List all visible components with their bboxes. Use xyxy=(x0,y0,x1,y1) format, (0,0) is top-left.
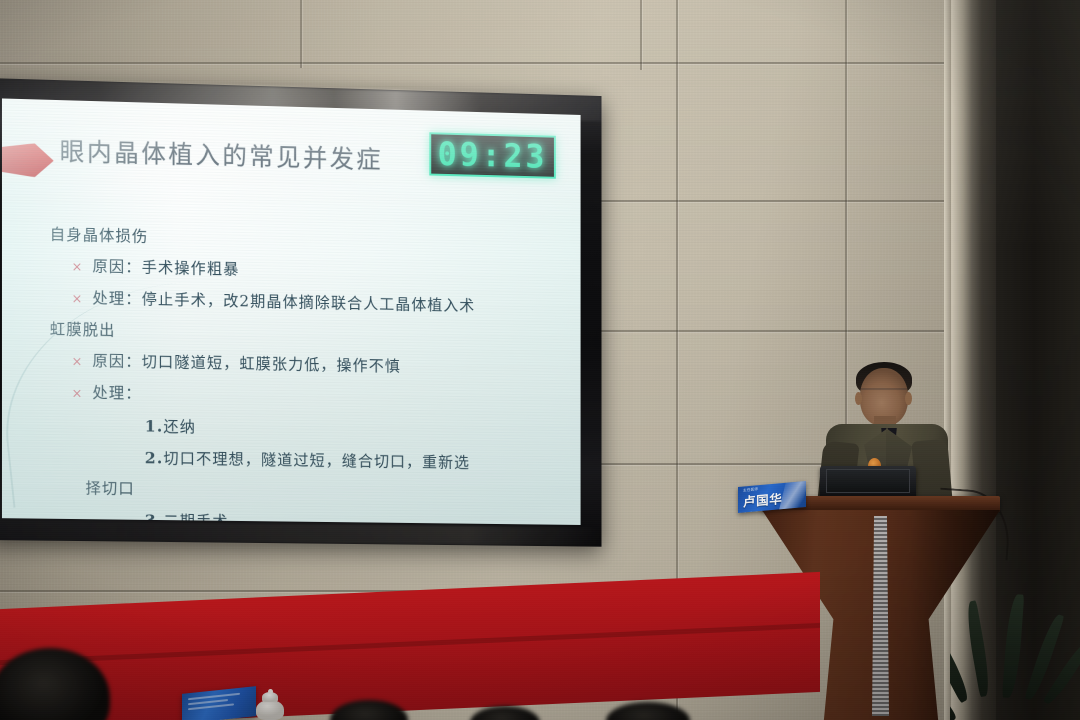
potted-plant xyxy=(950,560,1080,720)
countdown-clock: 09:23 xyxy=(429,132,556,179)
numbered-item-wrap: 择切口 xyxy=(50,473,556,510)
laptop-screen xyxy=(826,469,910,493)
laptop xyxy=(820,466,916,498)
projection-screen: 眼内晶体植入的常见并发症 09:23 自身晶体损伤 ×原因：手术操作粗暴 ×处理… xyxy=(0,78,602,547)
bullet-text: 手术操作粗暴 xyxy=(142,258,240,278)
teapot-knob xyxy=(268,689,273,694)
list-number: 1. xyxy=(145,417,164,436)
bullet-x-icon: × xyxy=(72,386,84,401)
bullet-x-icon: × xyxy=(72,292,84,307)
nameplate-name: 卢国华 xyxy=(743,488,782,510)
bullet-x-icon: × xyxy=(72,260,84,275)
teapot-body xyxy=(256,700,284,720)
slide-title: 眼内晶体植入的常见并发症 xyxy=(60,132,383,176)
speaker-glasses xyxy=(861,388,907,400)
bullet-label: 处理： xyxy=(92,289,141,308)
bullet-text: 停止手术，改2期晶体摘除联合人工晶体植入术 xyxy=(142,290,476,315)
bullet-x-icon: × xyxy=(72,355,84,370)
wall-seam-horizontal xyxy=(0,62,1080,64)
bullet-label: 原因： xyxy=(92,352,141,371)
plant-leaf xyxy=(1002,594,1024,699)
red-chevron-icon xyxy=(2,142,54,178)
list-number: 2. xyxy=(145,448,164,467)
bullet-text: 切口隧道短，虹膜张力低，操作不慎 xyxy=(142,353,401,375)
list-text: 还纳 xyxy=(163,418,196,436)
wall-seam-vertical xyxy=(640,0,642,70)
plant-leaf xyxy=(963,600,992,697)
slide-body: 自身晶体损伤 ×原因：手术操作粗暴 ×处理：停止手术，改2期晶体摘除联合人工晶体… xyxy=(50,220,556,525)
slide-surface: 眼内晶体植入的常见并发症 09:23 自身晶体损伤 ×原因：手术操作粗暴 ×处理… xyxy=(2,98,581,525)
clock-time: 09:23 xyxy=(438,137,548,172)
bullet-label: 原因： xyxy=(92,257,141,276)
conference-hall-photo: 眼内晶体植入的常见并发症 09:23 自身晶体损伤 ×原因：手术操作粗暴 ×处理… xyxy=(0,0,1080,720)
teapot xyxy=(254,692,286,720)
wall-seam-vertical xyxy=(300,0,302,68)
list-text: 切口不理想，隧道过短，缝合切口，重新选 xyxy=(163,450,470,472)
list-text-continued: 择切口 xyxy=(85,479,134,498)
nameplate-text-lines xyxy=(188,693,240,713)
bullet-label: 处理： xyxy=(92,384,141,403)
